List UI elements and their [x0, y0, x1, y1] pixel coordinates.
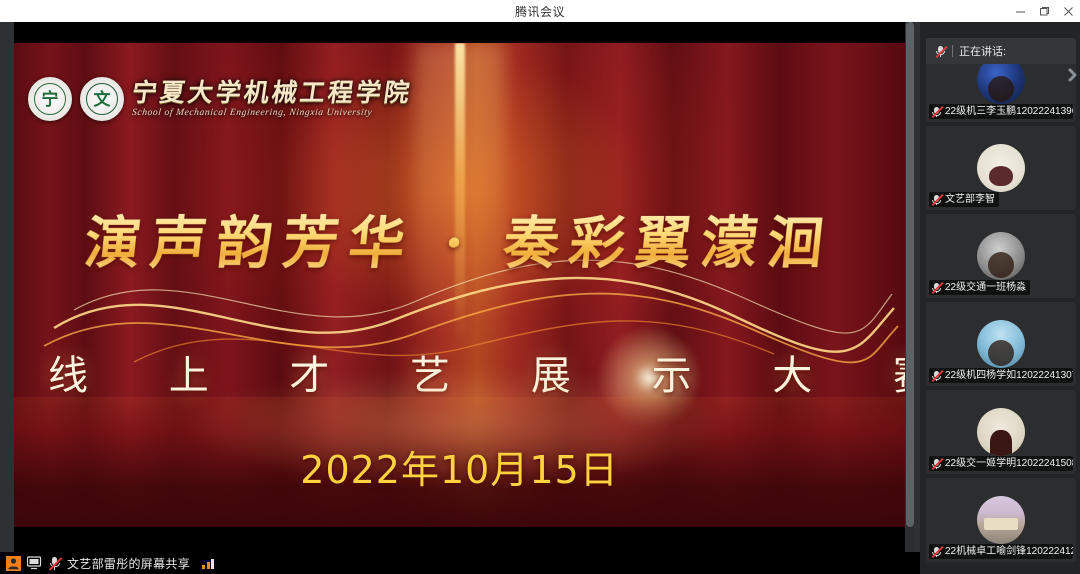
- maximize-button[interactable]: [1032, 0, 1056, 22]
- slide-main-title: 演声韵芳华 · 奏彩翼濛洄: [14, 198, 905, 279]
- participant-name-badge: 22级交通一班杨淼: [929, 280, 1030, 295]
- university-seal-icon: 宁: [28, 77, 72, 121]
- participant-name: 文艺部李智: [945, 195, 995, 205]
- avatar-figure: [988, 340, 1014, 366]
- participant-name: 22级机三李玉鹏12022241396: [945, 107, 1073, 117]
- shared-screen-stage[interactable]: 宁 文 宁夏大学机械工程学院 School of Mechanical Engi…: [0, 22, 920, 552]
- stage-scrollbar-thumb[interactable]: [906, 22, 914, 527]
- avatar-figure: [988, 252, 1014, 278]
- participant-name-badge: 22机械卓工喻剑锋12022241268: [929, 544, 1073, 559]
- presentation-slide: 宁 文 宁夏大学机械工程学院 School of Mechanical Engi…: [14, 43, 905, 527]
- speaking-banner-label: 正在讲话:: [959, 43, 1006, 59]
- school-name-block: 宁夏大学机械工程学院 School of Mechanical Engineer…: [132, 80, 412, 117]
- participant-name-badge: 文艺部李智: [929, 192, 999, 207]
- avatar-figure: [984, 518, 1018, 530]
- stage-beam: [455, 43, 465, 343]
- avatar-figure: [988, 76, 1014, 102]
- signal-strength-icon: [202, 558, 214, 569]
- participant-tile[interactable]: 文艺部李智: [926, 126, 1076, 210]
- share-status-bar: 文艺部雷彤的屏幕共享: [0, 552, 920, 574]
- person-icon: [6, 556, 21, 571]
- participant-name: 22级交一姬学明12022241508: [945, 459, 1073, 469]
- avatar: [977, 232, 1025, 280]
- window-controls: [1008, 0, 1080, 22]
- participant-tile[interactable]: 22级交通一班杨淼: [926, 214, 1076, 298]
- university-seal-glyph: 宁: [42, 91, 59, 108]
- participant-tile[interactable]: 22机械卓工喻剑锋12022241268: [926, 478, 1076, 562]
- share-status-text: 文艺部雷彤的屏幕共享: [67, 555, 190, 572]
- minimize-button[interactable]: [1008, 0, 1032, 22]
- mic-muted-icon: [935, 45, 946, 57]
- window-titlebar: 腾讯会议: [0, 0, 1080, 22]
- monitor-icon: [27, 556, 42, 570]
- school-logo-row: 宁 文 宁夏大学机械工程学院 School of Mechanical Engi…: [28, 77, 412, 121]
- school-name-cn: 宁夏大学机械工程学院: [130, 80, 414, 106]
- banner-divider: [952, 45, 953, 57]
- meeting-body: 宁 文 宁夏大学机械工程学院 School of Mechanical Engi…: [0, 22, 1080, 574]
- mic-muted-icon: [931, 282, 942, 294]
- mic-muted-icon: [931, 194, 942, 206]
- mic-muted-icon: [931, 370, 942, 382]
- participant-tile[interactable]: 22级机四杨学如12022241307: [926, 302, 1076, 386]
- college-seal-icon: 文: [80, 77, 124, 121]
- tencent-meeting-window: 腾讯会议: [0, 0, 1080, 574]
- participant-name: 22级机四杨学如12022241307: [945, 371, 1073, 381]
- close-button[interactable]: [1056, 0, 1080, 22]
- slide-date: 2022年10月15日: [14, 439, 905, 494]
- window-title: 腾讯会议: [515, 3, 565, 20]
- college-seal-glyph: 文: [94, 91, 111, 108]
- participant-name-badge: 22级机三李玉鹏12022241396: [929, 104, 1073, 119]
- participant-rail: 正在讲话: 22级机三李玉鹏12022241396文艺部李智22级交通一班杨淼2…: [920, 22, 1080, 574]
- chevron-right-icon[interactable]: [1066, 64, 1080, 86]
- speaking-banner: 正在讲话:: [926, 38, 1076, 64]
- mic-muted-icon: [931, 546, 942, 558]
- shared-screen-video: 宁 文 宁夏大学机械工程学院 School of Mechanical Engi…: [14, 22, 905, 552]
- stage-scrollbar[interactable]: [906, 22, 914, 552]
- avatar-figure: [990, 430, 1012, 456]
- avatar: [977, 408, 1025, 456]
- participant-name-badge: 22级交一姬学明12022241508: [929, 456, 1073, 471]
- mic-muted-icon: [48, 556, 61, 570]
- participant-name: 22机械卓工喻剑锋12022241268: [945, 547, 1073, 557]
- participant-tile-list: 22级机三李玉鹏12022241396文艺部李智22级交通一班杨淼22级机四杨学…: [926, 38, 1076, 562]
- participant-name: 22级交通一班杨淼: [945, 283, 1026, 293]
- school-name-en: School of Mechanical Engineering, Ningxi…: [131, 108, 412, 118]
- participant-name-badge: 22级机四杨学如12022241307: [929, 368, 1073, 383]
- avatar: [977, 144, 1025, 192]
- avatar: [977, 496, 1025, 544]
- avatar: [977, 320, 1025, 368]
- mic-muted-icon: [931, 106, 942, 118]
- avatar-figure: [989, 166, 1013, 186]
- mic-muted-icon: [931, 458, 942, 470]
- participant-tile[interactable]: 22级交一姬学明12022241508: [926, 390, 1076, 474]
